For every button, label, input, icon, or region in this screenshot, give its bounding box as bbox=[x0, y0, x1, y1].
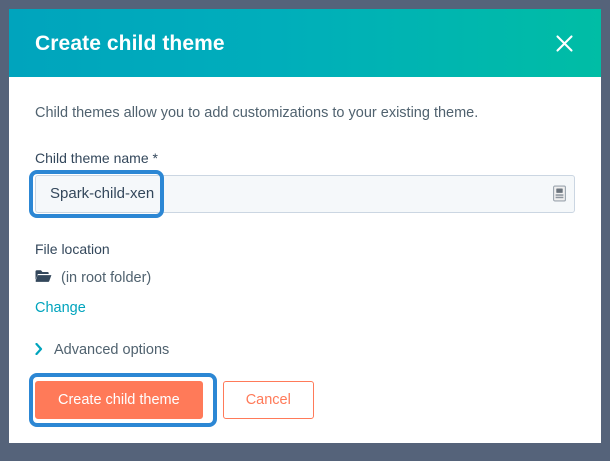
screen-frame: Create child theme Child themes allow yo… bbox=[0, 0, 610, 461]
advanced-options-label: Advanced options bbox=[54, 342, 169, 358]
modal-body: Child themes allow you to add customizat… bbox=[9, 77, 601, 363]
chevron-right-icon bbox=[35, 343, 43, 357]
page-title: Create child theme bbox=[35, 33, 225, 54]
modal-header: Create child theme bbox=[9, 9, 601, 77]
modal-footer: Create child theme Cancel bbox=[9, 363, 601, 443]
close-button[interactable] bbox=[549, 28, 579, 58]
child-theme-name-field-wrap bbox=[35, 175, 575, 213]
advanced-options-toggle[interactable]: Advanced options bbox=[35, 342, 575, 358]
change-location-link[interactable]: Change bbox=[35, 300, 86, 316]
folder-icon bbox=[35, 269, 52, 288]
file-location-path: (in root folder) bbox=[61, 270, 151, 286]
child-theme-name-label: Child theme name * bbox=[35, 150, 575, 166]
autofill-icon[interactable] bbox=[552, 185, 566, 202]
file-location-label: File location bbox=[35, 241, 575, 257]
create-child-theme-button[interactable]: Create child theme bbox=[35, 381, 203, 419]
file-location-row: (in root folder) bbox=[35, 269, 575, 288]
close-icon bbox=[555, 34, 574, 53]
child-theme-name-input[interactable] bbox=[35, 175, 575, 213]
modal-description: Child themes allow you to add customizat… bbox=[35, 104, 575, 124]
cancel-button[interactable]: Cancel bbox=[223, 381, 314, 419]
create-child-theme-modal: Create child theme Child themes allow yo… bbox=[9, 9, 601, 443]
